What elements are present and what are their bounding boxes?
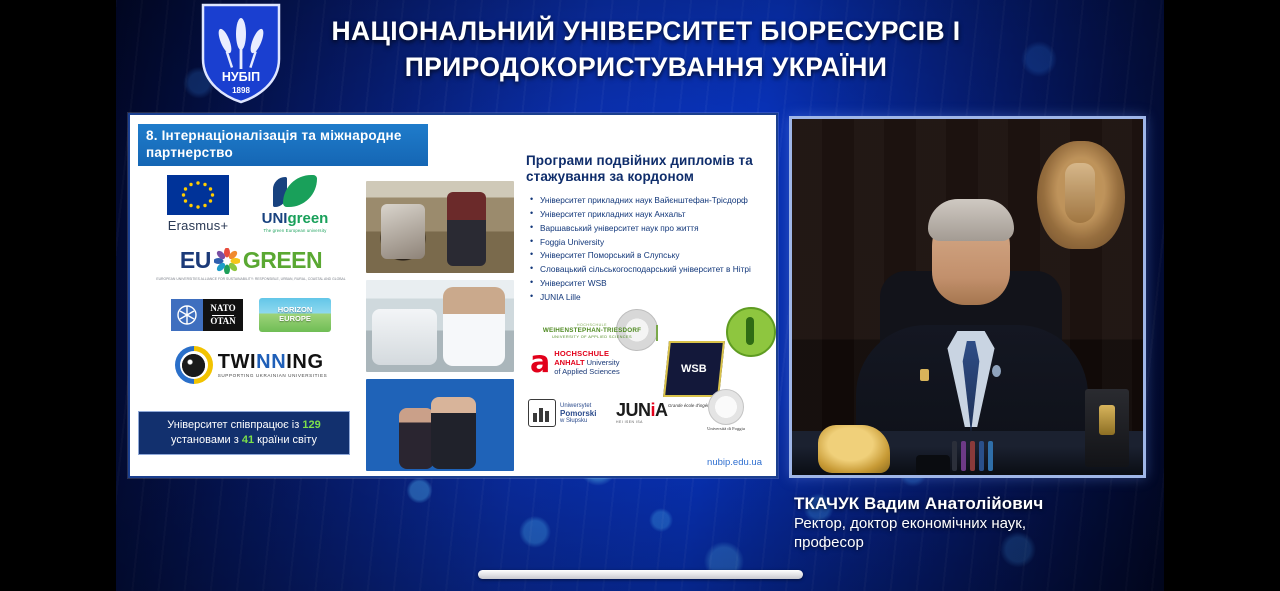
speaker-role-line2: професор (794, 534, 1154, 553)
anhalt-line2-bold: ANHALT (554, 358, 584, 367)
twinning-part3: ING (286, 351, 323, 373)
slide-section-banner: 8. Інтернаціоналізація та міжнародне пар… (138, 124, 428, 166)
header-title-line2: ПРИРОДОКОРИСТУВАННЯ УКРАЇНИ (296, 50, 996, 86)
erasmus-logo: Erasmus+ (161, 175, 235, 233)
unigreen-tagline: The green European university (249, 228, 341, 233)
partner-university-logos: HOCHSCHULE WEIHENSTEPHAN-TRIESDORF UNIVE… (526, 323, 776, 443)
unigreen-word-part2: green (287, 210, 328, 227)
stat-middle: установами з (171, 434, 242, 446)
pomorski-mark-icon (528, 399, 556, 427)
eugreen-tagline: EUROPEAN UNIVERSITIES ALLIANCE FOR SUSTA… (140, 277, 362, 282)
eugreen-logo: EU (140, 247, 362, 282)
list-item: Варшавський університет наук про життя (540, 222, 772, 235)
presentation-progress-bar[interactable] (478, 570, 803, 579)
header-banner: НУБІП 1898 НАЦІОНАЛЬНИЙ УНІВЕРСИТЕТ БІОР… (116, 0, 1164, 105)
pomorski-wordmark: Uniwersytet Pomorski w Słupsku (560, 403, 596, 424)
photo-students-classroom (366, 181, 514, 273)
list-item: Університет Поморський в Слупську (540, 249, 772, 262)
lapel-pin-silver (992, 365, 1001, 377)
eugreen-word-part1: EU (180, 247, 211, 274)
anhalt-line2: ANHALT University (554, 358, 619, 367)
foggia-label: Università di Foggia (706, 426, 746, 431)
junia-wordmark: JUNiA (616, 401, 668, 419)
header-title-line1: НАЦІОНАЛЬНИЙ УНІВЕРСИТЕТ БІОРЕСУРСІВ І (331, 16, 960, 46)
weihenstephan-line2: WEIHENSTEPHAN-TRIESDORF (532, 327, 652, 334)
list-item: Foggia University (540, 236, 772, 249)
logo-divider (656, 325, 658, 341)
foggia-logo: Università di Foggia (706, 389, 746, 431)
twinning-part1: TWI (218, 351, 256, 373)
list-item: Словацький сільськогосподарський універс… (540, 263, 772, 276)
speaker-hair (928, 199, 1014, 241)
junia-part3: A (655, 400, 668, 420)
shared-presentation-slide[interactable]: 8. Інтернаціоналізація та міжнародне пар… (128, 113, 778, 478)
twinning-globe-icon (175, 346, 213, 384)
speaker-video-tile[interactable] (789, 116, 1146, 478)
horizon-europe-logo: HORIZON EUROPE (259, 298, 331, 332)
nubip-logo: НУБІП 1898 (197, 1, 285, 105)
twinning-subtitle: SUPPORTING UKRAINIAN UNIVERSITIES (218, 373, 328, 378)
double-degree-title: Програми подвійних дипломів та стажуванн… (526, 153, 772, 186)
logo-row-middle: NATO OTAN HORIZON EUROPE (140, 298, 362, 332)
letterbox-bar-left (0, 0, 116, 591)
double-degree-section: Програми подвійних дипломів та стажуванн… (526, 153, 772, 305)
list-item: Університет прикладних наук Вайєнштефан-… (540, 194, 772, 207)
lapel-pin-gold (920, 369, 929, 381)
nato-star-icon (171, 299, 203, 331)
anhalt-mark-icon: a (530, 351, 550, 375)
pomorski-line2: Pomorski (560, 409, 596, 418)
weihenstephan-logo: HOCHSCHULE WEIHENSTEPHAN-TRIESDORF UNIVE… (532, 323, 652, 339)
nato-wordmark: NATO OTAN (203, 299, 243, 331)
twinning-part2: NN (256, 351, 286, 373)
logo-year-text: 1898 (232, 86, 250, 95)
nato-line2: OTAN (210, 317, 235, 327)
eugreen-flower-icon (214, 248, 240, 274)
twinning-logo: TWINNING SUPPORTING UKRAINIAN UNIVERSITI… (140, 346, 362, 384)
green-wheat-seal-icon (726, 307, 776, 357)
stat-institutions-count: 129 (302, 419, 320, 431)
shield-icon: НУБІП 1898 (197, 1, 285, 105)
list-item: Університет прикладних наук Анхальт (540, 208, 772, 221)
video-conference-stage: НУБІП 1898 НАЦІОНАЛЬНИЙ УНІВЕРСИТЕТ БІОР… (0, 0, 1280, 591)
stat-countries-count: 41 (242, 434, 254, 446)
double-degree-list: Університет прикладних наук Вайєнштефан-… (526, 194, 772, 304)
stat-suffix: країни світу (254, 434, 317, 446)
junia-part1: JUN (616, 400, 651, 420)
desk-award-plaque (1085, 389, 1129, 467)
nato-line1: NATO (210, 304, 235, 314)
unigreen-logo: UNIgreen The green European university (249, 175, 341, 233)
speaker-caption: ТКАЧУК Вадим Анатолійович Ректор, доктор… (794, 494, 1154, 553)
weihenstephan-line3: UNIVERSITY OF APPLIED SCIENCES (532, 334, 652, 339)
speaker-role-line1: Ректор, доктор економічних наук, (794, 515, 1154, 534)
desk-microphone (916, 455, 950, 475)
eugreen-wordmark: EU (140, 247, 362, 274)
list-item: JUNIA Lille (540, 291, 772, 304)
eugreen-word-part2: GREEN (243, 247, 322, 274)
anhalt-wordmark: HOCHSCHULE ANHALT University of Applied … (554, 349, 619, 376)
logo-row-top: Erasmus+ UNIgreen The green European uni… (140, 175, 362, 233)
pomorski-line3: w Słupsku (560, 418, 596, 424)
pomorski-line1: Uniwersytet (560, 403, 596, 409)
photo-conference-backdrop (366, 379, 514, 471)
horizon-europe-text: HORIZON EUROPE (259, 306, 331, 323)
desk-pen-holder (952, 437, 1010, 471)
slide-website-url[interactable]: nubip.edu.ua (707, 457, 762, 468)
slide-photo-column (366, 181, 514, 471)
horizon-line2: EUROPE (259, 315, 331, 324)
page-title: НАЦІОНАЛЬНИЙ УНІВЕРСИТЕТ БІОРЕСУРСІВ І П… (296, 14, 996, 86)
wsb-label: WSB (681, 363, 707, 375)
erasmus-label: Erasmus+ (161, 218, 235, 233)
desk-gold-ornament (818, 425, 890, 473)
eu-flag-icon (167, 175, 229, 215)
junia-subtitle: HEI ISEN ISA (616, 420, 668, 424)
unigreen-leaf-icon (249, 175, 341, 209)
foggia-seal-icon (708, 389, 744, 425)
twinning-wordmark: TWINNING (218, 352, 328, 372)
pomorski-logo: Uniwersytet Pomorski w Słupsku (528, 399, 596, 427)
logo-name-text: НУБІП (222, 70, 260, 84)
unigreen-wordmark: UNIgreen (249, 210, 341, 227)
anhalt-logo: a HOCHSCHULE ANHALT University of Applie… (530, 349, 620, 376)
state-emblem-decor (1037, 141, 1125, 249)
anhalt-line1: HOCHSCHULE (554, 349, 619, 358)
speaker-role: Ректор, доктор економічних наук, професо… (794, 515, 1154, 553)
letterbox-bar-right (1164, 0, 1280, 591)
anhalt-line3: of Applied Sciences (554, 367, 619, 376)
speaker-name: ТКАЧУК Вадим Анатолійович (794, 494, 1154, 514)
list-item: Університет WSB (540, 277, 772, 290)
anhalt-line2-rest: University (585, 358, 620, 367)
stat-prefix: Університет співпрацює із (167, 419, 302, 431)
junia-logo: JUNiA HEI ISEN ISA (616, 401, 668, 424)
cooperation-stat-box: Університет співпрацює із 129 установами… (138, 411, 350, 455)
nato-logo: NATO OTAN (171, 299, 243, 331)
unigreen-word-part1: UNI (262, 210, 288, 227)
photo-lab-researchers (366, 280, 514, 372)
